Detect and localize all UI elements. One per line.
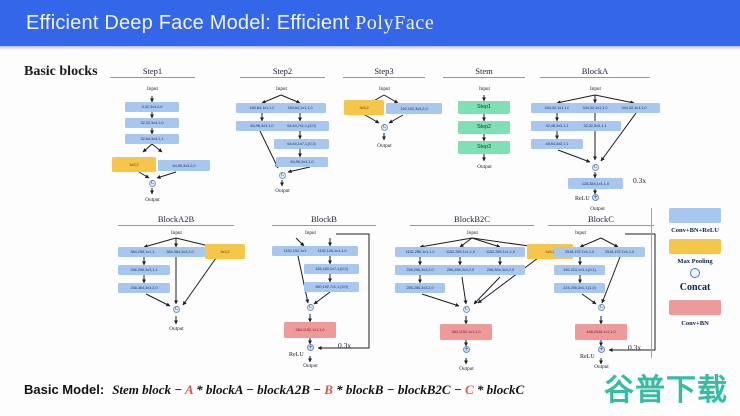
legend-label-conv-bn-relu: Conv+BN+ReLU [655,227,735,234]
node-step1-4: 64,96,3x3,2,0 [158,160,210,171]
step2-output-label: Output [265,188,300,194]
node-stem-step3: Step3 [458,141,510,154]
blockA2B-output-label: Output [159,326,194,332]
concat-blockB: C [307,304,314,311]
concat-step1: C [149,180,156,187]
node-blockB-3: 160,192,7x1,1,(3,0) [304,282,359,292]
block-title-step2: Step2 [240,66,325,78]
block-title-blockC: BlockC [548,214,654,226]
node-blockC-2: 192,224,1x3,1,(0,1) [554,265,605,275]
blockA-input-label: Input [578,86,613,92]
block-title-blockB2C: BlockB2C [410,214,534,226]
node-blockA2B-2-maxpool: 3x3,2 [205,244,245,259]
legend-concat-circle-icon [690,268,700,278]
blockB-input-label: Input [293,230,328,236]
node-stem-step2: Step2 [458,121,510,134]
formula-coeff-B: B [324,382,333,397]
stem-input-label: Input [467,86,502,92]
block-title-step3: Step3 [343,66,425,78]
legend-swatch-yellow-max-pooling [669,239,721,254]
blockA-output-label: Output [580,206,615,212]
node-blockB-2: 128,160,1x7,1,(0,3) [304,264,359,274]
loop-label-blockB: 0.3x [338,341,351,350]
blockC-input-label: Input [563,230,598,236]
step3-output-label: Output [367,143,402,149]
legend-label-conv-bn: Conv+BN [655,320,735,327]
node-step2-5: 64,96,3x3,1,0 [276,157,328,167]
relu-blockC: ReLU [580,354,595,360]
watermark: 谷普下载 [604,376,728,406]
node-blockA2B-4: 256,384,3x3,2,0 [118,283,170,293]
legend: Conv+BN+ReLU Max Pooling Concat Conv+BN [655,208,735,358]
node-step2-4: 64,64,1x7,1,(0,3) [274,139,329,149]
blockB2C-input-label: Input [455,230,490,236]
node-blockA2B-1: 384,384,3x3,2,0 [155,247,205,257]
node-blockB2C-2: 1152,256,1x1,1,0 [476,247,525,257]
block-title-stem: Stem [443,66,525,78]
legend-swatch-blue-conv-bn-relu [669,208,721,223]
add-blockA: + [592,194,599,201]
concat-step2: C [279,172,286,179]
blockB-output-label: Output [293,363,328,369]
node-blockA-2: 344,32,1x1,1,0 [608,103,660,113]
concat-blockA2B: C [173,306,180,313]
arrow-layer [0,0,740,416]
node-blockC-3: 224,256,3x1,1,(1,0) [554,283,605,293]
formula-part-1: Stem block − [112,382,185,397]
legend-label-concat: Concat [655,282,735,293]
blockB2C-output-label: Output [449,366,484,372]
add-blockB: + [307,344,314,351]
add-blockC: + [598,346,605,353]
concat-step3: C [381,124,388,131]
loop-label-blockA: 0.3x [633,176,646,185]
node-step3-0-maxpool: 3x3,2 [344,100,384,115]
node-blockB-4-convbn: 384,1152,1x1,1,0 [284,322,336,338]
node-blockA-5: 48,64,3x3,1,1 [531,139,583,149]
node-step1-0: 3,32,3x3,2,0 [125,102,179,112]
formula-coeff-C: C [465,382,474,397]
node-blockB2C-6: 256,384,3x3,2,0 [476,265,525,275]
blockA2B-input-label: Input [159,230,194,236]
basic-model-formula: Basic Model:Stem block − A * blockA − bl… [24,382,524,398]
block-title-blockB: BlockB [272,214,376,226]
node-blockB-1: 1152,128,1x1,1,0 [306,246,358,256]
node-blockA-4: 32,32,3x3,1,1 [569,121,621,131]
formula-part-4: * blockC [474,382,525,397]
slide-canvas: Efficient Deep Face Model: Efficient Pol… [0,0,740,416]
step1-input-label: Input [135,86,170,92]
block-title-blockA: BlockA [540,66,650,78]
legend-swatch-red-conv-bn [669,300,721,315]
node-step2-3: 64,64,7x1,1,(3,0) [274,121,329,131]
step3-input-label: Input [367,86,402,92]
block-title-step1: Step1 [110,66,195,78]
relu-blockB: ReLU [289,352,304,358]
add-blockB2C: + [463,346,470,353]
formula-part-3: * blockB − blockB2C − [333,382,465,397]
node-blockA-6: 128,384,1x1,1,0 [568,178,623,189]
relu-blockA: ReLU [575,196,590,202]
loop-label-blockC: 0.3x [628,343,641,352]
node-step1-1: 32,32,3x3,1,0 [125,118,179,128]
concat-blockA: C [592,164,599,171]
blockC-output-label: Output [584,364,619,370]
node-blockB2C-extra: 256,256,3x3,2,0 [395,283,445,293]
node-step1-2: 32,64,3x3,1,1 [125,134,179,144]
step1-output-label: Output [135,197,170,203]
formula-coeff-A: A [185,382,193,397]
step2-input-label: Input [264,86,299,92]
concat-blockB2C: C [463,306,470,313]
block-title-blockA2B: BlockA2B [118,214,234,226]
concat-blockC: C [598,304,605,311]
node-blockB2C-7-convbn: 384,1152,1x1,1,0 [440,324,492,340]
node-step1-3-maxpool: 3x3,2 [112,157,156,172]
node-blockC-4-convbn: 448,2048,1x1,1,0 [575,324,627,340]
node-step2-1: 160,64,1x1,1,0 [274,103,326,113]
node-step3-1: 192,192,3x3,2,0 [386,103,442,114]
node-blockC-1: 2048,192,1x1,1,0 [594,247,645,257]
legend-label-max-pooling: Max Pooling [655,258,735,265]
stem-output-label: Output [467,164,502,170]
formula-label: Basic Model: [24,382,104,397]
node-stem-step1: Step1 [458,101,510,114]
formula-part-2: * blockA − blockA2B − [193,382,324,397]
node-blockA2B-3: 256,256,3x3,1,1 [118,265,170,275]
legend-divider [651,208,652,358]
